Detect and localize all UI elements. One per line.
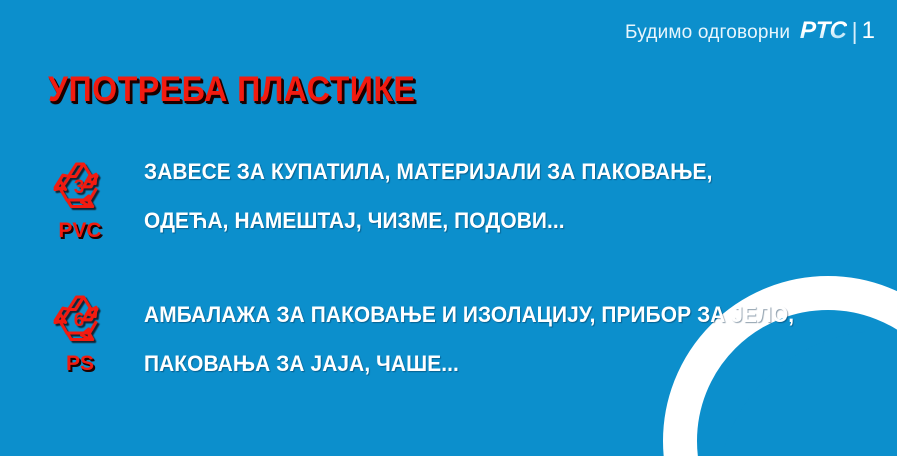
svg-text:3: 3 — [74, 177, 85, 198]
rts-logo-divider: | — [852, 18, 858, 45]
list-item: 3 PVC ЗАВЕСЕ ЗА КУПАТИЛА, МАТЕРИЈАЛИ ЗА … — [0, 156, 897, 243]
plastic-type-list: 3 PVC ЗАВЕСЕ ЗА КУПАТИЛА, МАТЕРИЈАЛИ ЗА … — [0, 156, 897, 416]
recycling-symbol-pvc: 3 PVC — [42, 156, 118, 243]
list-item-line: ЗАВЕСЕ ЗА КУПАТИЛА, МАТЕРИЈАЛИ ЗА ПАКОВА… — [144, 160, 859, 183]
list-item: 6 PS АМБАЛАЖА ЗА ПАКОВАЊЕ И ИЗОЛАЦИЈУ, П… — [0, 291, 897, 376]
list-item-line: ОДЕЋА, НАМЕШТАЈ, ЧИЗМЕ, ПОДОВИ... — [144, 209, 859, 232]
list-item-text: ЗАВЕСЕ ЗА КУПАТИЛА, МАТЕРИЈАЛИ ЗА ПАКОВА… — [118, 156, 897, 232]
recycling-code-label: PVC — [58, 219, 101, 243]
recycling-triangle-icon: 3 — [52, 160, 108, 212]
recycling-triangle-icon: 6 — [52, 293, 108, 345]
rts-logo-channel-number: 1 — [862, 17, 875, 45]
rts-logo: PTC | 1 — [800, 17, 875, 45]
recycling-code-label: PS — [66, 352, 94, 376]
list-item-text: АМБАЛАЖА ЗА ПАКОВАЊЕ И ИЗОЛАЦИЈУ, ПРИБОР… — [118, 291, 897, 375]
channel-branding: Будимо одговорни PTC | 1 — [625, 17, 875, 45]
recycling-symbol-ps: 6 PS — [42, 291, 118, 376]
svg-text:6: 6 — [74, 310, 85, 331]
rts-logo-mark: PTC — [800, 17, 847, 45]
page-title: УПОТРЕБА ПЛАСТИКЕ — [48, 70, 415, 110]
brand-slogan: Будимо одговорни — [625, 22, 790, 44]
list-item-line: АМБАЛАЖА ЗА ПАКОВАЊЕ И ИЗОЛАЦИЈУ, ПРИБОР… — [144, 303, 859, 326]
list-item-line: ПАКОВАЊА ЗА ЈАЈА, ЧАШЕ... — [144, 352, 859, 375]
broadcast-graphic-frame: Будимо одговорни PTC | 1 УПОТРЕБА ПЛАСТИ… — [0, 0, 897, 456]
